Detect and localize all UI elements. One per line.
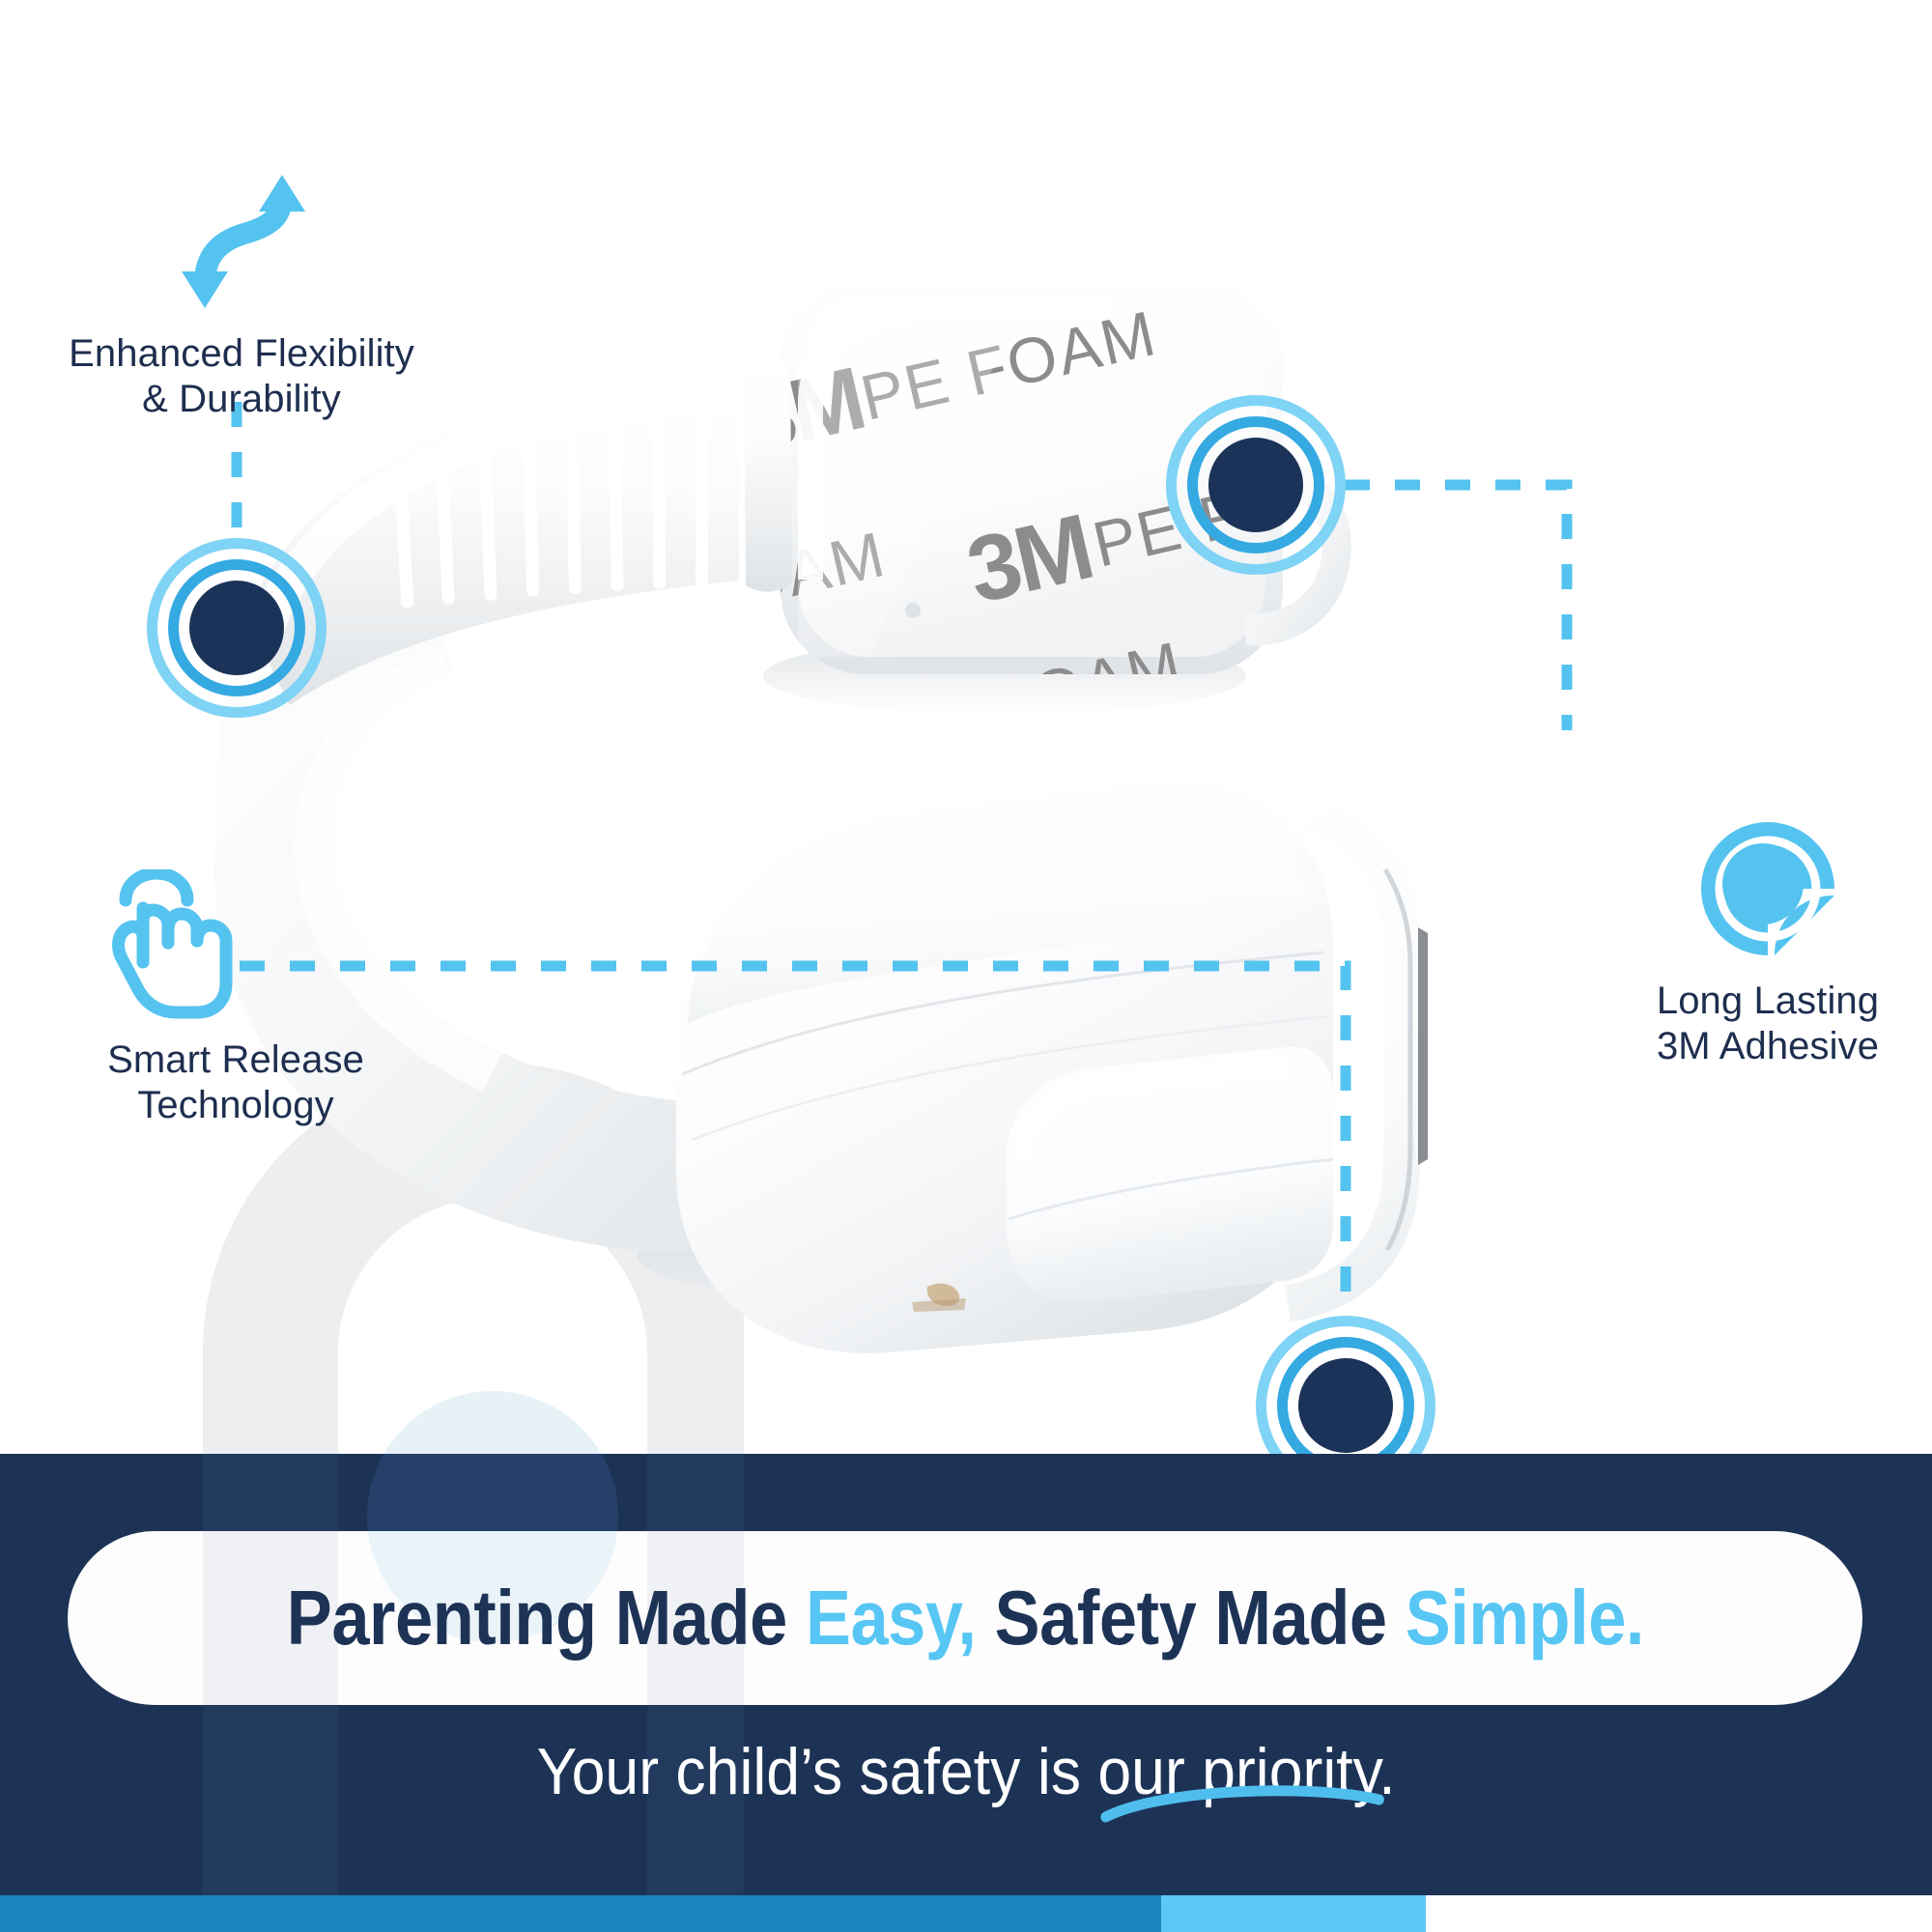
peel-sticker-icon (1695, 816, 1840, 961)
banner-subline-wrap: Your child’s safety is our priority. (0, 1734, 1932, 1809)
marker-core-dot (189, 581, 284, 675)
svg-text:3M: 3M (736, 350, 871, 471)
feature-adhesive-label: Long Lasting 3M Adhesive (1604, 979, 1932, 1069)
headline-segment-2-accent: Easy, (806, 1575, 977, 1661)
strip-segment-white (1426, 1895, 1932, 1932)
banner-headline: Parenting Made Easy, Safety Made Simple. (286, 1574, 1643, 1662)
svg-text:3M: 3M (958, 496, 1099, 623)
bottom-banner: Parenting Made Easy, Safety Made Simple.… (0, 1454, 1932, 1895)
headline-segment-4-accent: Simple. (1405, 1575, 1643, 1661)
feature-adhesive: Long Lasting 3M Adhesive (1604, 816, 1932, 1069)
feature-smart-release: Smart Release Technology (24, 869, 430, 1128)
strip-segment-light-blue (1161, 1895, 1426, 1932)
feature-flexibility: Enhanced Flexibility & Durability (58, 169, 425, 422)
strip-segment-blue (0, 1895, 1161, 1932)
svg-text:OAM: OAM (729, 518, 893, 621)
connector-adhesive (1345, 485, 1567, 730)
headline-pill: Parenting Made Easy, Safety Made Simple. (68, 1531, 1862, 1705)
svg-text:PE FOAM: PE FOAM (854, 297, 1163, 434)
underline-swoosh (1100, 1780, 1384, 1825)
feature-smart-release-label: Smart Release Technology (42, 1037, 430, 1128)
banner-subline: Your child’s safety is our priority. (537, 1734, 1396, 1809)
bottom-color-strip (0, 1895, 1932, 1932)
marker-core-dot (1208, 438, 1303, 532)
headline-segment-3: Safety Made (976, 1575, 1405, 1661)
s-curve-double-arrow-icon (164, 169, 319, 314)
hand-tap-icon (97, 869, 241, 1024)
marker-core-dot (1298, 1358, 1393, 1453)
svg-text:OAM: OAM (1026, 628, 1189, 731)
headline-segment-1: Parenting Made (286, 1575, 805, 1661)
feature-flexibility-label: Enhanced Flexibility & Durability (58, 331, 425, 422)
infographic-canvas: 3M PE FOAM OAM 3M PE FO OAM (0, 0, 1932, 1932)
